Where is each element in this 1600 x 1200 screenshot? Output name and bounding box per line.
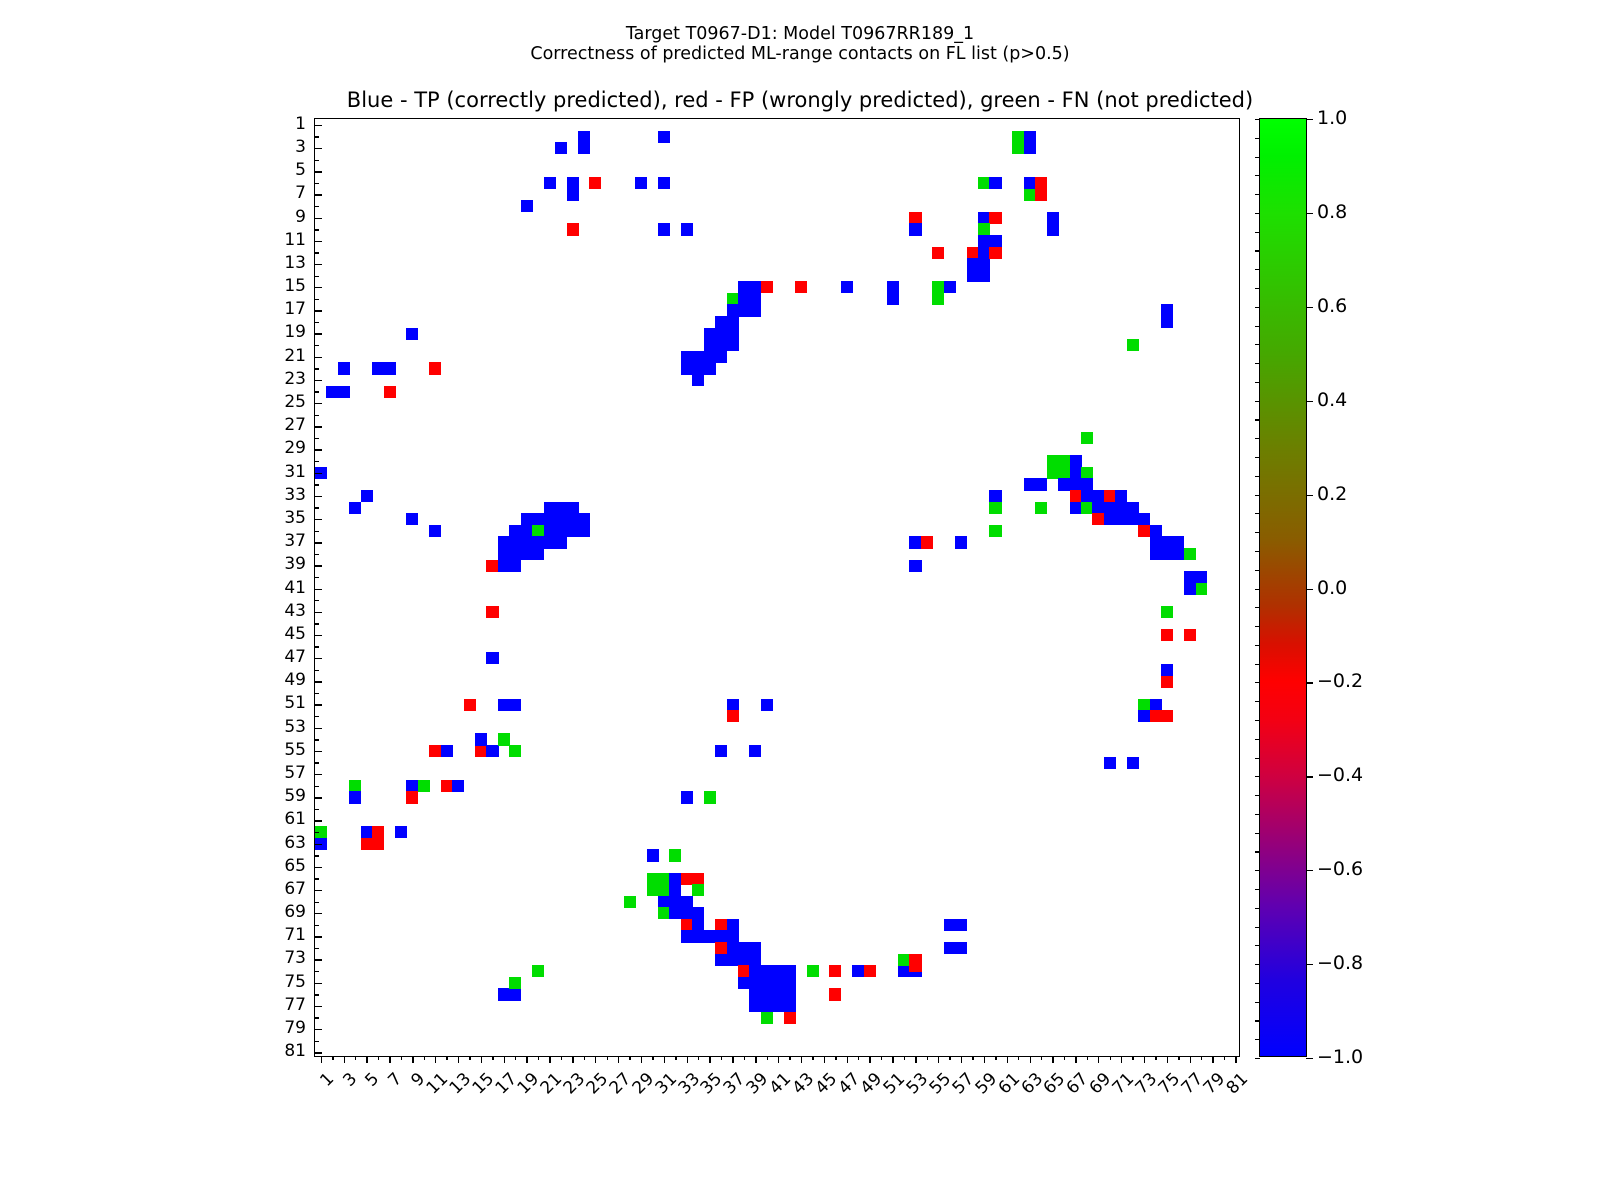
contact-cell xyxy=(989,502,1001,514)
contact-cell xyxy=(361,490,373,502)
contact-cell xyxy=(1104,502,1116,514)
colorbar-tick-label: 0.8 xyxy=(1317,201,1347,223)
contact-cell xyxy=(989,525,1001,537)
y-tick xyxy=(315,762,319,763)
contact-cell xyxy=(921,536,933,548)
colorbar-minor-tick xyxy=(1255,457,1260,458)
y-tick xyxy=(315,276,319,277)
contact-cell xyxy=(784,1012,796,1024)
contact-cell xyxy=(978,258,990,270)
contact-cell xyxy=(1184,583,1196,595)
x-tick xyxy=(972,1056,973,1060)
x-tick xyxy=(1201,1056,1202,1060)
contact-cell xyxy=(1092,502,1104,514)
contact-cell xyxy=(1035,189,1047,201)
y-tick xyxy=(315,507,319,508)
y-tick-label: 17 xyxy=(266,299,306,319)
contact-cell xyxy=(989,177,1001,189)
contact-cell xyxy=(349,791,361,803)
contact-cell xyxy=(567,223,579,235)
y-tick xyxy=(315,867,322,868)
contact-cell xyxy=(909,223,921,235)
contact-cell xyxy=(475,733,487,745)
contact-cell xyxy=(761,988,773,1000)
y-tick-label: 43 xyxy=(266,601,306,621)
contact-cell xyxy=(567,189,579,201)
contact-cell xyxy=(989,247,1001,259)
colorbar-minor-tick xyxy=(1255,795,1260,796)
y-tick-label: 3 xyxy=(266,137,306,157)
y-tick-label: 55 xyxy=(266,740,306,760)
contact-cell xyxy=(669,849,681,861)
contact-cell xyxy=(1172,548,1184,560)
colorbar-minor-tick xyxy=(1255,964,1260,965)
contact-cell xyxy=(1138,699,1150,711)
contact-cell xyxy=(738,954,750,966)
y-tick xyxy=(315,438,319,439)
x-tick xyxy=(424,1056,425,1060)
contact-cell xyxy=(967,258,979,270)
contact-cell xyxy=(692,907,704,919)
contact-cell xyxy=(1047,223,1059,235)
y-tick xyxy=(315,229,319,230)
contact-cell xyxy=(944,281,956,293)
contact-cell xyxy=(555,502,567,514)
colorbar-minor-tick xyxy=(1255,589,1260,590)
contact-cell xyxy=(1127,339,1139,351)
colorbar-minor-tick xyxy=(1255,363,1260,364)
y-tick-label: 47 xyxy=(266,647,306,667)
contact-cell xyxy=(429,362,441,374)
contact-cell xyxy=(589,177,601,189)
y-tick-label: 81 xyxy=(266,1041,306,1061)
contact-cell xyxy=(1104,757,1116,769)
colorbar-minor-tick xyxy=(1255,870,1260,871)
y-tick-label: 27 xyxy=(266,415,306,435)
y-tick-label: 45 xyxy=(266,624,306,644)
contact-cell xyxy=(1035,478,1047,490)
contact-cell xyxy=(338,386,350,398)
y-tick-label: 71 xyxy=(266,925,306,945)
contact-cell xyxy=(1161,710,1173,722)
contact-cell xyxy=(749,304,761,316)
contact-cell xyxy=(761,965,773,977)
colorbar-minor-tick xyxy=(1255,344,1260,345)
contact-cell xyxy=(795,281,807,293)
contact-cell xyxy=(772,977,784,989)
x-tick xyxy=(321,1056,322,1063)
contact-cell xyxy=(429,525,441,537)
contact-cell xyxy=(715,942,727,954)
contact-cell xyxy=(1161,548,1173,560)
axes-title: Blue - TP (correctly predicted), red - F… xyxy=(0,88,1600,112)
contact-cell xyxy=(681,907,693,919)
contact-cell xyxy=(509,745,521,757)
contact-cell xyxy=(715,919,727,931)
contact-cell xyxy=(852,965,864,977)
colorbar-minor-tick xyxy=(1255,570,1260,571)
contact-cell xyxy=(955,536,967,548)
contact-cell xyxy=(932,293,944,305)
y-tick xyxy=(315,125,322,126)
contact-cell xyxy=(1070,455,1082,467)
contact-cell xyxy=(784,1000,796,1012)
x-tick xyxy=(1007,1056,1008,1063)
colorbar-minor-tick xyxy=(1255,1002,1260,1003)
x-tick xyxy=(709,1056,710,1063)
contact-cell xyxy=(978,177,990,189)
contact-cell xyxy=(955,942,967,954)
contact-cell xyxy=(1161,304,1173,316)
x-tick xyxy=(1132,1056,1133,1060)
contact-cell xyxy=(978,247,990,259)
y-tick xyxy=(315,739,319,740)
contact-cell xyxy=(727,699,739,711)
contact-cell xyxy=(727,710,739,722)
y-tick xyxy=(315,994,319,995)
contact-cell xyxy=(738,293,750,305)
y-tick xyxy=(315,844,322,845)
contact-cell xyxy=(532,536,544,548)
y-tick xyxy=(315,751,322,752)
contact-cell xyxy=(967,247,979,259)
x-tick xyxy=(458,1056,459,1063)
contact-cell xyxy=(475,745,487,757)
contact-cell xyxy=(715,745,727,757)
y-tick xyxy=(315,206,319,207)
colorbar-tick-label: 0.2 xyxy=(1317,483,1347,505)
figure-suptitle-line2: Correctness of predicted ML-range contac… xyxy=(0,41,1600,67)
x-tick xyxy=(892,1056,893,1063)
contact-cell xyxy=(384,386,396,398)
x-tick xyxy=(1212,1056,1213,1063)
colorbar-minor-tick xyxy=(1255,213,1260,214)
contact-cell xyxy=(681,791,693,803)
contact-cell xyxy=(1024,177,1036,189)
contact-cell xyxy=(909,536,921,548)
contact-cell xyxy=(772,1000,784,1012)
contact-cell xyxy=(1047,455,1059,467)
contact-cell xyxy=(715,351,727,363)
colorbar-tick xyxy=(1306,119,1313,120)
colorbar-minor-tick xyxy=(1255,1058,1260,1059)
colorbar-tick-label: −0.8 xyxy=(1317,952,1363,974)
contact-cell xyxy=(658,131,670,143)
x-tick xyxy=(584,1056,585,1060)
y-tick xyxy=(315,1052,322,1053)
colorbar-tick xyxy=(1306,776,1313,777)
colorbar-minor-tick xyxy=(1255,927,1260,928)
contact-cell xyxy=(955,919,967,931)
contact-cell xyxy=(727,942,739,954)
y-tick-label: 19 xyxy=(266,322,306,342)
x-tick xyxy=(1155,1056,1156,1060)
y-tick xyxy=(315,693,319,694)
x-tick xyxy=(1190,1056,1191,1063)
x-tick xyxy=(1052,1056,1053,1063)
x-tick xyxy=(641,1056,642,1063)
x-tick xyxy=(824,1056,825,1063)
x-tick xyxy=(1110,1056,1111,1060)
contact-map-cells xyxy=(315,119,1239,1056)
contact-cell xyxy=(406,780,418,792)
contact-cell xyxy=(784,977,796,989)
colorbar-minor-tick xyxy=(1255,645,1260,646)
colorbar-minor-tick xyxy=(1255,119,1260,120)
contact-cell xyxy=(1150,525,1162,537)
contact-cell xyxy=(864,965,876,977)
contact-cell xyxy=(784,988,796,1000)
contact-cell xyxy=(989,490,1001,502)
contact-cell xyxy=(932,247,944,259)
contact-cell xyxy=(681,362,693,374)
x-tick xyxy=(835,1056,836,1060)
contact-cell xyxy=(749,965,761,977)
colorbar-minor-tick xyxy=(1255,1039,1260,1040)
x-tick xyxy=(995,1056,996,1060)
y-tick-label: 31 xyxy=(266,462,306,482)
contact-cell xyxy=(555,525,567,537)
contact-cell xyxy=(406,328,418,340)
colorbar-minor-tick xyxy=(1255,664,1260,665)
contact-cell xyxy=(498,699,510,711)
contact-cell xyxy=(772,988,784,1000)
contact-cell xyxy=(1184,571,1196,583)
y-tick xyxy=(315,1006,322,1007)
contact-cell xyxy=(1024,142,1036,154)
x-tick xyxy=(1041,1056,1042,1060)
y-tick-label: 39 xyxy=(266,554,306,574)
contact-cell xyxy=(692,930,704,942)
contact-cell xyxy=(486,652,498,664)
y-tick xyxy=(315,403,322,404)
y-tick-label: 9 xyxy=(266,207,306,227)
x-tick xyxy=(869,1056,870,1063)
contact-cell xyxy=(1012,142,1024,154)
contact-cell xyxy=(372,826,384,838)
contact-cell xyxy=(567,525,579,537)
x-tick xyxy=(378,1056,379,1060)
colorbar-minor-tick xyxy=(1255,250,1260,251)
x-tick xyxy=(812,1056,813,1060)
figure-root: Target T0967-D1: Model T0967RR189_1 Corr… xyxy=(0,0,1600,1200)
contact-cell xyxy=(715,930,727,942)
contact-cell xyxy=(898,965,910,977)
y-tick xyxy=(315,786,319,787)
y-tick xyxy=(315,646,319,647)
y-tick xyxy=(315,716,319,717)
contact-cell xyxy=(989,235,1001,247)
contact-cell xyxy=(829,988,841,1000)
contact-cell xyxy=(681,351,693,363)
x-tick xyxy=(344,1056,345,1063)
contact-cell xyxy=(738,304,750,316)
contact-cell xyxy=(658,223,670,235)
colorbar-minor-tick xyxy=(1255,175,1260,176)
y-tick xyxy=(315,461,319,462)
contact-cell xyxy=(978,212,990,224)
contact-cell xyxy=(1115,490,1127,502)
contact-cell xyxy=(1058,455,1070,467)
contact-cell xyxy=(567,502,579,514)
contact-cell xyxy=(704,328,716,340)
contact-cell xyxy=(658,873,670,885)
colorbar-minor-tick xyxy=(1255,401,1260,402)
y-tick xyxy=(315,658,322,659)
x-tick xyxy=(1018,1056,1019,1060)
x-tick xyxy=(1030,1056,1031,1063)
colorbar-tick-label: 0.6 xyxy=(1317,295,1347,317)
contact-cell xyxy=(978,235,990,247)
contact-cell xyxy=(464,699,476,711)
y-tick xyxy=(315,983,322,984)
colorbar-minor-tick xyxy=(1255,1020,1260,1021)
contact-cell xyxy=(1012,131,1024,143)
colorbar-tick xyxy=(1306,401,1313,402)
contact-cell xyxy=(669,896,681,908)
contact-cell xyxy=(509,548,521,560)
y-tick xyxy=(315,183,319,184)
contact-cell xyxy=(338,362,350,374)
contact-cell xyxy=(441,745,453,757)
y-tick xyxy=(315,704,322,705)
contact-cell xyxy=(1115,513,1127,525)
y-tick xyxy=(315,959,322,960)
contact-cell xyxy=(967,270,979,282)
contact-cell xyxy=(1035,502,1047,514)
contact-cell xyxy=(692,351,704,363)
contact-cell xyxy=(704,791,716,803)
y-tick xyxy=(315,774,322,775)
contact-cell xyxy=(578,142,590,154)
contact-cell xyxy=(1150,710,1162,722)
contact-cell xyxy=(555,536,567,548)
y-tick xyxy=(315,241,322,242)
y-tick-label: 29 xyxy=(266,438,306,458)
x-tick xyxy=(549,1056,550,1063)
colorbar-tick xyxy=(1306,964,1313,965)
contact-cell xyxy=(704,362,716,374)
y-tick-label: 61 xyxy=(266,809,306,829)
contact-cell xyxy=(1150,536,1162,548)
contact-cell xyxy=(1081,478,1093,490)
colorbar-minor-tick xyxy=(1255,307,1260,308)
y-tick xyxy=(315,902,319,903)
colorbar-minor-tick xyxy=(1255,833,1260,834)
y-tick-label: 13 xyxy=(266,253,306,273)
contact-cell xyxy=(647,873,659,885)
colorbar-minor-tick xyxy=(1255,701,1260,702)
contact-cell xyxy=(738,281,750,293)
colorbar-tick xyxy=(1306,307,1313,308)
contact-cell xyxy=(978,223,990,235)
colorbar-minor-tick xyxy=(1255,626,1260,627)
x-tick xyxy=(767,1056,768,1060)
x-tick xyxy=(538,1056,539,1060)
contact-cell xyxy=(372,838,384,850)
y-tick xyxy=(315,299,319,300)
contact-cell xyxy=(567,513,579,525)
contact-cell xyxy=(727,919,739,931)
contact-cell xyxy=(1024,478,1036,490)
colorbar-minor-tick xyxy=(1255,758,1260,759)
y-tick xyxy=(315,623,319,624)
colorbar-tick-label: −0.2 xyxy=(1317,670,1363,692)
colorbar-tick-label: 1.0 xyxy=(1317,107,1347,129)
y-tick xyxy=(315,484,319,485)
colorbar-minor-tick xyxy=(1255,945,1260,946)
contact-cell xyxy=(624,896,636,908)
y-tick-label: 11 xyxy=(266,230,306,250)
y-tick xyxy=(315,577,319,578)
x-tick xyxy=(332,1056,333,1060)
contact-cell xyxy=(361,826,373,838)
contact-cell xyxy=(841,281,853,293)
x-tick-label: 81 xyxy=(1217,1069,1252,1104)
y-tick xyxy=(315,797,322,798)
x-tick xyxy=(412,1056,413,1063)
x-tick xyxy=(698,1056,699,1060)
contact-cell xyxy=(681,930,693,942)
contact-cell xyxy=(715,316,727,328)
contact-cell xyxy=(418,780,430,792)
x-tick xyxy=(789,1056,790,1060)
y-tick-label: 75 xyxy=(266,972,306,992)
colorbar-tick xyxy=(1306,213,1313,214)
contact-cell xyxy=(1150,548,1162,560)
y-tick xyxy=(315,391,319,392)
contact-cell xyxy=(658,884,670,896)
y-tick xyxy=(315,554,319,555)
contact-cell xyxy=(761,281,773,293)
y-tick-label: 79 xyxy=(266,1018,306,1038)
contact-cell xyxy=(681,873,693,885)
contact-cell xyxy=(441,780,453,792)
y-tick-label: 57 xyxy=(266,763,306,783)
contact-cell xyxy=(498,988,510,1000)
contact-cell xyxy=(509,988,521,1000)
contact-cell xyxy=(532,965,544,977)
y-tick xyxy=(315,357,322,358)
y-tick xyxy=(315,287,322,288)
x-tick xyxy=(1087,1056,1088,1060)
contact-cell xyxy=(692,884,704,896)
colorbar-minor-tick xyxy=(1255,889,1260,890)
contact-cell xyxy=(681,896,693,908)
colorbar-minor-tick xyxy=(1255,532,1260,533)
contact-cell xyxy=(486,560,498,572)
contact-cell xyxy=(1092,490,1104,502)
contact-cell xyxy=(909,212,921,224)
colorbar-minor-tick xyxy=(1255,851,1260,852)
y-tick xyxy=(315,1017,319,1018)
y-tick-label: 51 xyxy=(266,693,306,713)
x-tick xyxy=(481,1056,482,1063)
contact-cell xyxy=(829,965,841,977)
contact-cell xyxy=(1172,536,1184,548)
contact-cell xyxy=(807,965,819,977)
contact-cell xyxy=(498,548,510,560)
contact-cell xyxy=(749,745,761,757)
y-tick-label: 73 xyxy=(266,948,306,968)
y-tick xyxy=(315,136,319,137)
x-tick xyxy=(1235,1056,1236,1063)
colorbar-minor-tick xyxy=(1255,382,1260,383)
y-tick xyxy=(315,948,319,949)
y-tick-label: 77 xyxy=(266,995,306,1015)
colorbar-minor-tick xyxy=(1255,908,1260,909)
contact-cell xyxy=(727,316,739,328)
